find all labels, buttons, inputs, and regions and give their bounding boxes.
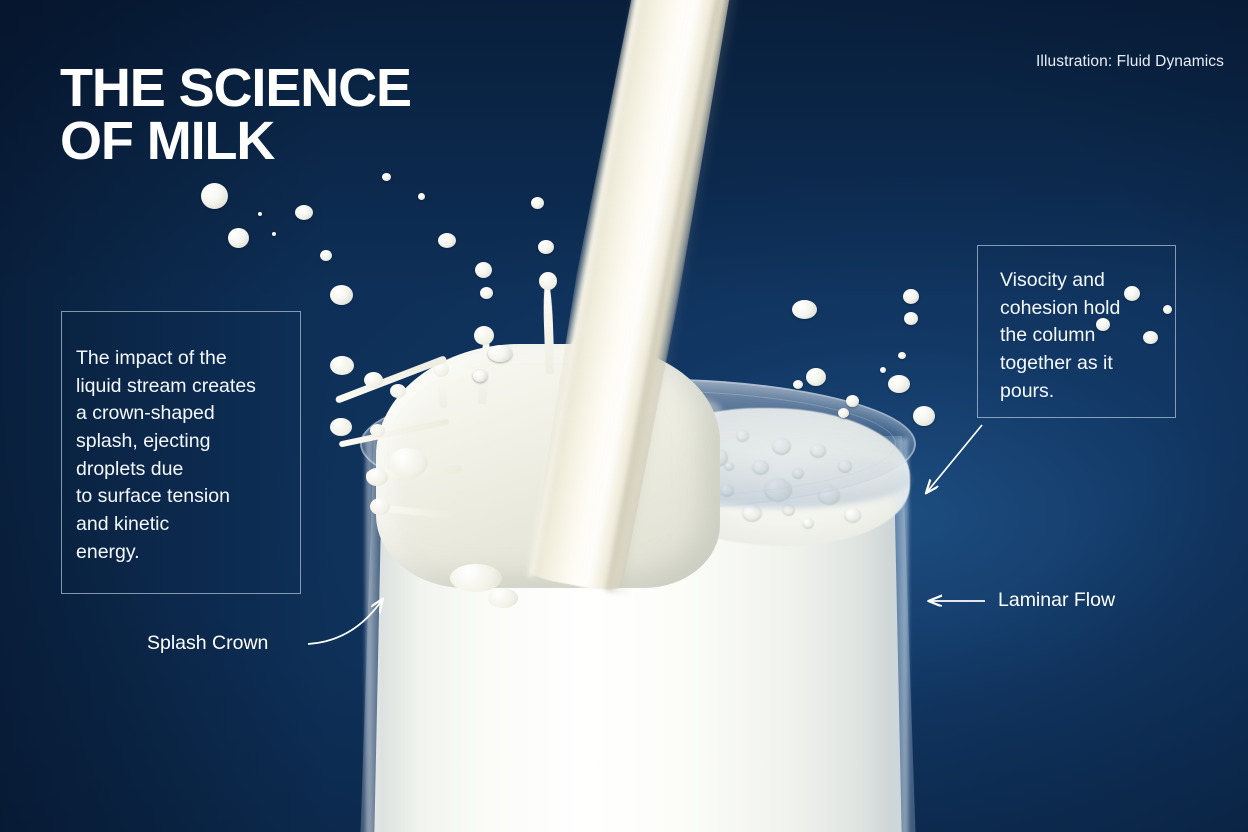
droplet	[846, 395, 859, 407]
tendril-bead	[364, 372, 383, 388]
tendril-bead	[330, 418, 352, 436]
droplet	[295, 205, 313, 220]
droplet	[418, 193, 425, 200]
tendril-bead	[390, 384, 406, 398]
droplet	[330, 285, 353, 305]
droplet	[531, 197, 544, 209]
droplet	[438, 233, 456, 248]
droplet	[480, 287, 493, 299]
droplet	[475, 262, 492, 278]
droplet	[898, 352, 906, 359]
droplet	[880, 367, 886, 373]
droplet	[538, 240, 554, 254]
droplet	[793, 380, 803, 389]
droplet	[913, 406, 935, 426]
tendril-bead	[388, 448, 428, 478]
viscosity-callout: Visocity and cohesion hold the column to…	[977, 245, 1176, 418]
droplet	[903, 289, 919, 304]
droplet	[272, 232, 276, 236]
droplet	[904, 312, 918, 325]
droplet	[838, 408, 849, 418]
droplet	[201, 183, 228, 209]
droplet	[488, 345, 512, 362]
crown-spike-bead	[474, 326, 494, 345]
laminar-flow-label: Laminar Flow	[998, 589, 1115, 612]
page-title: THE SCIENCE OF MILK	[60, 62, 411, 168]
droplet	[258, 212, 262, 216]
droplet	[806, 368, 826, 386]
droplet	[792, 300, 817, 319]
droplet	[888, 375, 910, 393]
tendril-bead	[370, 424, 385, 437]
tendril-bead	[330, 356, 354, 375]
splash-crown-label: Splash Crown	[147, 632, 268, 655]
tendril-bead	[366, 468, 388, 486]
infographic-canvas: THE SCIENCE OF MILK Illustration: Fluid …	[0, 0, 1248, 832]
viscosity-callout-text: Visocity and cohesion hold the column to…	[1000, 267, 1180, 405]
droplet	[228, 228, 249, 248]
credit-line: Illustration: Fluid Dynamics	[1036, 53, 1224, 71]
glass-right-highlight	[890, 438, 908, 832]
droplet	[382, 173, 391, 181]
splash-callout: The impact of the liquid stream creates …	[61, 311, 301, 594]
tendril-bead	[370, 498, 390, 515]
droplet	[320, 250, 332, 261]
splash-callout-text: The impact of the liquid stream creates …	[76, 345, 326, 567]
droplet	[473, 370, 487, 382]
